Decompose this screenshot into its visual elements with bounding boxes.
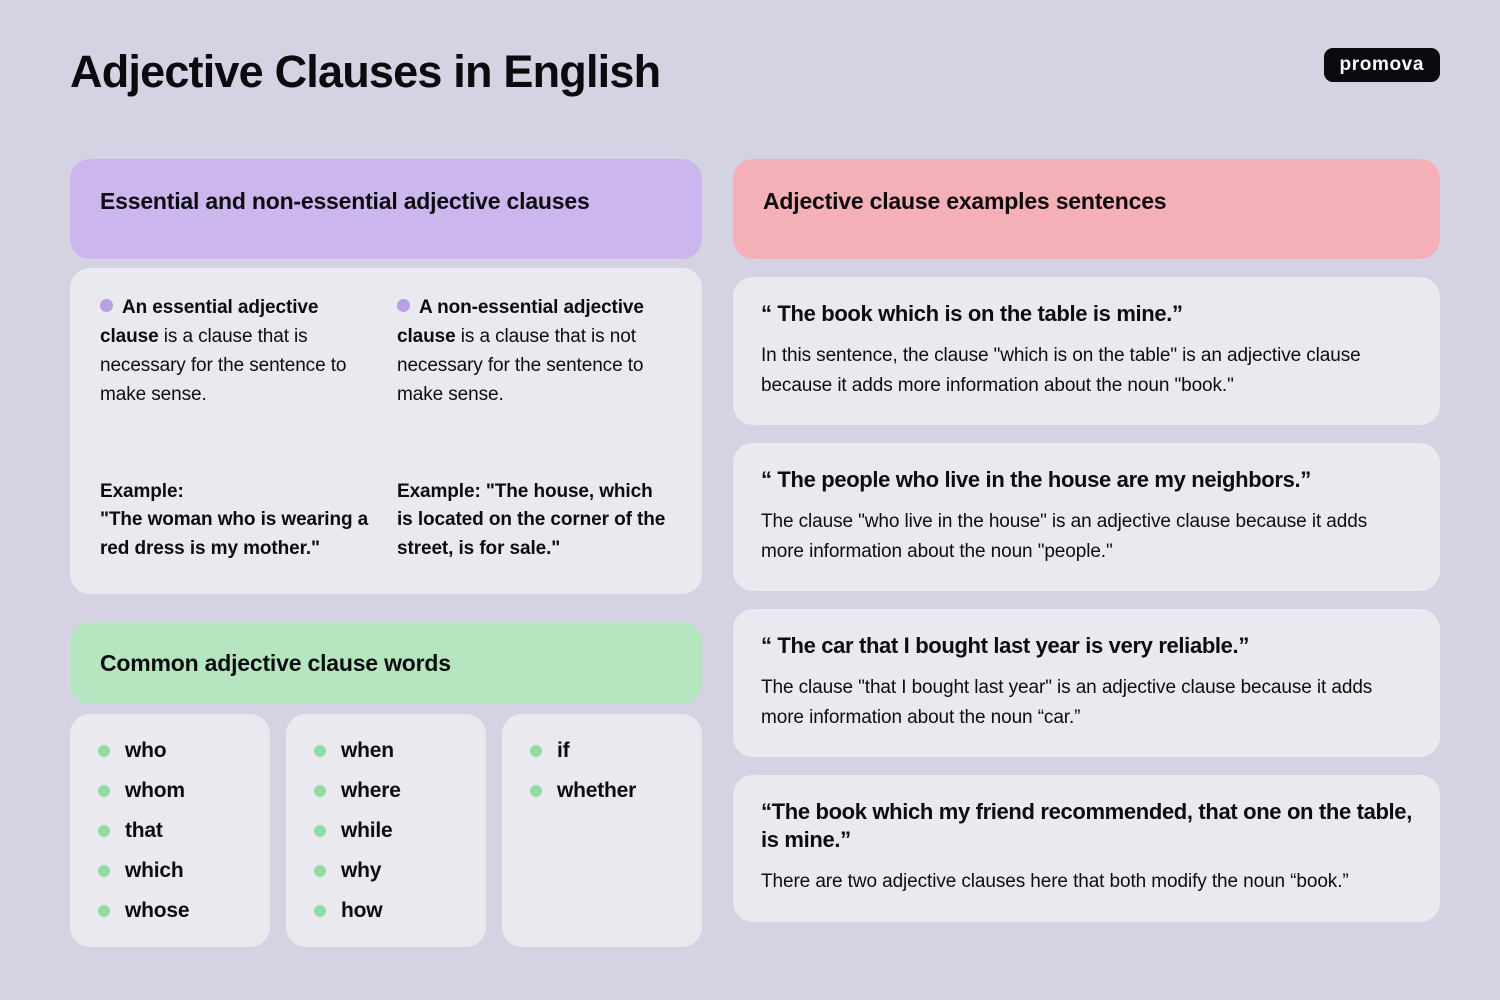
example-explanation: There are two adjective clauses here tha… [761,867,1412,896]
word-column-2: when where while why how [286,714,486,947]
word-label: whose [125,900,189,921]
example-explanation: The clause "who live in the house" is an… [761,507,1412,566]
word-label: where [341,780,401,801]
word-column-3: if whether [502,714,702,947]
word-label: if [557,740,569,761]
green-bullet-icon [98,825,110,837]
definition-example: Example: "The house, which is located on… [397,478,672,565]
example-card-4: “The book which my friend recommended, t… [733,775,1440,922]
example-card-2: “ The people who live in the house are m… [733,443,1440,591]
content-columns: Essential and non-essential adjective cl… [70,159,1440,947]
definition-example: Example: "The woman who is wearing a red… [100,478,375,565]
list-item: whom [98,780,248,801]
green-bullet-icon [314,745,326,757]
infographic-page: Adjective Clauses in English promova Ess… [0,0,1500,1000]
list-item: where [314,780,464,801]
green-bullet-icon [530,785,542,797]
list-item: that [98,820,248,841]
common-words-banner: Common adjective clause words [70,622,702,704]
list-item: when [314,740,464,761]
word-label: how [341,900,382,921]
word-label: whom [125,780,185,801]
definition-paragraph: An essential adjective clause is a claus… [100,294,375,410]
word-label: that [125,820,163,841]
purple-bullet-icon [397,299,410,312]
example-explanation: The clause "that I bought last year" is … [761,673,1412,732]
list-item: who [98,740,248,761]
green-bullet-icon [98,745,110,757]
green-bullet-icon [98,785,110,797]
list-item: whose [98,900,248,921]
purple-bullet-icon [100,299,113,312]
promova-logo: promova [1324,48,1440,82]
essential-clauses-banner: Essential and non-essential adjective cl… [70,159,702,259]
example-quote: “The book which my friend recommended, t… [761,798,1412,854]
examples-banner: Adjective clause examples sentences [733,159,1440,259]
word-label: when [341,740,394,761]
example-card-1: “ The book which is on the table is mine… [733,277,1440,425]
page-header: Adjective Clauses in English promova [70,48,1440,128]
word-label: whether [557,780,636,801]
example-label: Example: [100,481,184,502]
green-bullet-icon [314,905,326,917]
right-column: Adjective clause examples sentences “ Th… [733,159,1440,947]
word-columns-row: who whom that which whose when where whi… [70,714,702,947]
word-label: who [125,740,166,761]
list-item: if [530,740,680,761]
green-bullet-icon [98,865,110,877]
list-item: why [314,860,464,881]
example-quote: “ The people who live in the house are m… [761,466,1412,494]
definition-column-non-essential: A non-essential adjective clause is a cl… [397,294,672,564]
example-quote: “ The car that I bought last year is ver… [761,632,1412,660]
word-label: why [341,860,381,881]
example-label: Example: [397,481,481,502]
word-label: while [341,820,393,841]
list-item: while [314,820,464,841]
example-card-3: “ The car that I bought last year is ver… [733,609,1440,757]
definition-paragraph: A non-essential adjective clause is a cl… [397,294,672,410]
list-item: whether [530,780,680,801]
example-quote: “ The book which is on the table is mine… [761,300,1412,328]
example-text: "The woman who is wearing a red dress is… [100,509,368,559]
word-label: which [125,860,184,881]
green-bullet-icon [314,825,326,837]
example-explanation: In this sentence, the clause "which is o… [761,341,1412,400]
green-bullet-icon [530,745,542,757]
green-bullet-icon [98,905,110,917]
list-item: which [98,860,248,881]
left-column: Essential and non-essential adjective cl… [70,159,702,947]
page-title: Adjective Clauses in English [70,48,1440,95]
definitions-card: An essential adjective clause is a claus… [70,268,702,594]
green-bullet-icon [314,865,326,877]
green-bullet-icon [314,785,326,797]
word-column-1: who whom that which whose [70,714,270,947]
definition-column-essential: An essential adjective clause is a claus… [100,294,375,564]
list-item: how [314,900,464,921]
